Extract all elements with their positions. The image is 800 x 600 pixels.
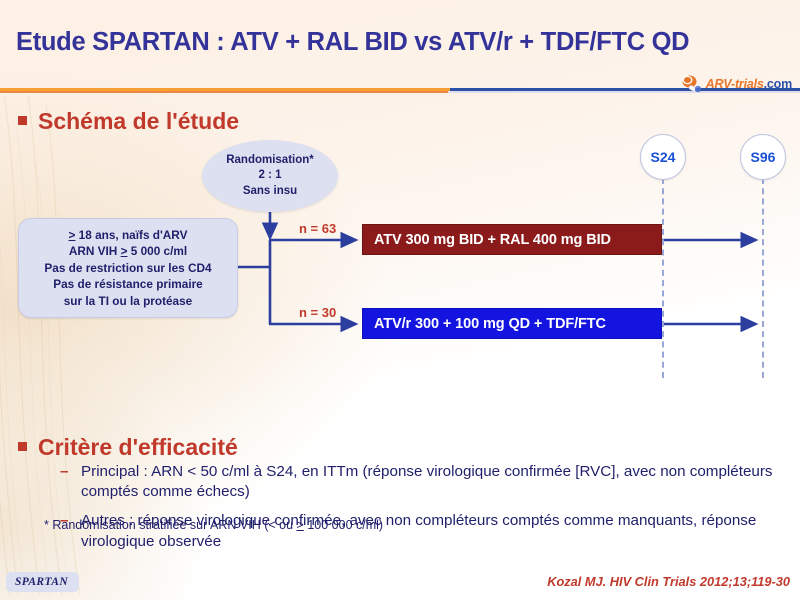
arm-1-n-label: n = 63: [299, 221, 336, 236]
list-item: – Principal : ARN < 50 c/ml à S24, en IT…: [60, 462, 790, 502]
pill-bottle-icon: [681, 74, 703, 94]
citation-reference: Kozal MJ. HIV Clin Trials 2012;13;119-30: [547, 574, 790, 589]
randomisation-line-2: 2 : 1: [258, 168, 281, 183]
dash-bullet-icon: –: [60, 462, 71, 502]
arv-trials-logo: ARV-trials.com: [681, 74, 792, 94]
criteria-line-1: > 18 ans, naïfs d'ARV: [69, 227, 188, 244]
treatment-arm-2: ATV/r 300 + 100 mg QD + TDF/FTC: [362, 308, 662, 339]
study-design-diagram: Randomisation* 2 : 1 Sans insu > 18 ans,…: [0, 130, 800, 420]
timepoint-s96: S96: [740, 134, 786, 180]
page-title: Etude SPARTAN : ATV + RAL BID vs ATV/r +…: [16, 28, 791, 57]
timepoint-dashed-line-s96: [762, 178, 764, 378]
efficacy-criteria-list: – Principal : ARN < 50 c/ml à S24, en IT…: [60, 462, 790, 561]
timepoint-dashed-line-s24: [662, 178, 664, 378]
list-item-text: Principal : ARN < 50 c/ml à S24, en ITTm…: [81, 462, 790, 502]
section-heading-critere: Critère d'efficacité: [18, 434, 238, 461]
section-heading-critere-label: Critère d'efficacité: [38, 434, 238, 461]
randomisation-line-1: Randomisation*: [226, 153, 314, 168]
list-item: – Autres : réponse virologique confirmée…: [60, 511, 790, 551]
timepoint-s24: S24: [640, 134, 686, 180]
randomisation-node: Randomisation* 2 : 1 Sans insu: [202, 140, 338, 212]
slide: Etude SPARTAN : ATV + RAL BID vs ATV/r +…: [0, 0, 800, 600]
study-name-badge: SPARTAN: [6, 572, 79, 592]
criteria-line-2: ARN VIH > 5 000 c/ml: [69, 243, 187, 260]
square-bullet-icon: [18, 116, 27, 125]
arm-2-n-label: n = 30: [299, 305, 336, 320]
criteria-line-3: Pas de restriction sur les CD4: [44, 260, 211, 277]
criteria-line-4: Pas de résistance primaire: [53, 276, 203, 293]
list-item-text: Autres : réponse virologique confirmée, …: [81, 511, 790, 551]
inclusion-criteria-box: > 18 ans, naïfs d'ARV ARN VIH > 5 000 c/…: [18, 218, 238, 318]
treatment-arm-1: ATV 300 mg BID + RAL 400 mg BID: [362, 224, 662, 255]
logo-label: ARV-trials.com: [706, 77, 792, 91]
randomisation-line-3: Sans insu: [243, 184, 297, 199]
dash-bullet-icon: –: [60, 511, 71, 551]
criteria-line-5: sur la TI ou la protéase: [64, 293, 193, 310]
square-bullet-icon: [18, 442, 27, 451]
